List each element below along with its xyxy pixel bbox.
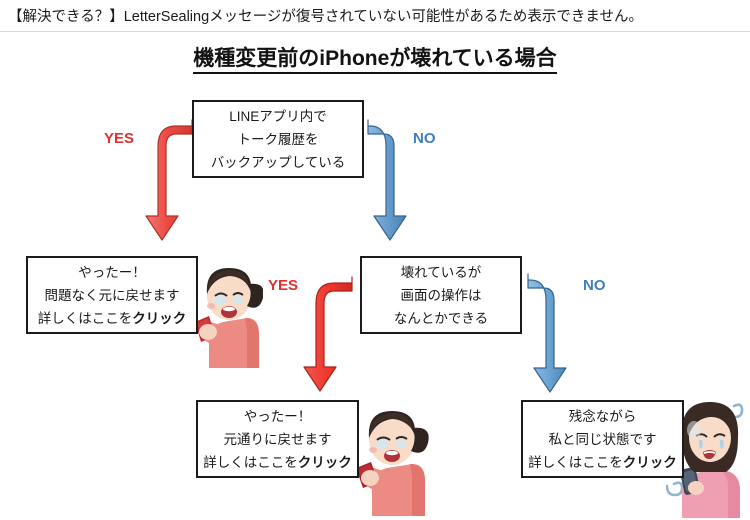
node-cta-bold: クリック: [132, 311, 186, 326]
node-line: トーク履歴を: [238, 128, 319, 151]
page-title: 機種変更前のiPhoneが壊れている場合: [0, 42, 750, 72]
node-line: バックアップしている: [211, 151, 346, 174]
page-title-text: 機種変更前のiPhoneが壊れている場合: [193, 47, 556, 74]
arrow-no-broken-to-sorry: [524, 272, 584, 398]
node-line: 私と同じ状態です: [549, 428, 657, 451]
node-cta[interactable]: 詳しくはここをクリック: [203, 451, 352, 474]
node-line: 残念ながら: [569, 405, 637, 428]
node-cta[interactable]: 詳しくはここをクリック: [38, 307, 187, 330]
node-broken-question[interactable]: 壊れているが 画面の操作は なんとかできる: [360, 256, 522, 334]
node-ok-result[interactable]: やったー！ 問題なく元に戻せます 詳しくはここをクリック: [26, 256, 198, 334]
node-sorry-result[interactable]: 残念ながら 私と同じ状態です 詳しくはここをクリック: [521, 400, 684, 478]
node-cta-prefix: 詳しくはここを: [38, 311, 133, 326]
node-cta-bold: クリック: [298, 455, 352, 470]
node-line: 問題なく元に戻せます: [45, 284, 180, 307]
node-cta-prefix: 詳しくはここを: [203, 455, 298, 470]
node-cta-bold: クリック: [623, 455, 677, 470]
node-backup-question[interactable]: LINEアプリ内で トーク履歴を バックアップしている: [192, 100, 364, 178]
node-line: やったー！: [78, 261, 146, 284]
header-divider: [0, 31, 750, 32]
node-line: やったー！: [244, 405, 312, 428]
edge-label-no-1: NO: [413, 130, 436, 147]
node-line: 元通りに戻せます: [224, 428, 332, 451]
node-line: なんとかできる: [394, 307, 488, 330]
edge-label-yes-2: YES: [268, 277, 298, 294]
node-cta[interactable]: 詳しくはここをクリック: [528, 451, 677, 474]
arrow-yes-broken-to-restore: [300, 275, 360, 397]
flowchart-page: 【解決できる？】LetterSealingメッセージが復号されていない可能性があ…: [0, 0, 750, 520]
cheering-girl-icon: [350, 398, 430, 516]
page-notice: 【解決できる？】LetterSealingメッセージが復号されていない可能性があ…: [8, 8, 744, 26]
node-restore-result[interactable]: やったー！ 元通りに戻せます 詳しくはここをクリック: [196, 400, 359, 478]
cheering-girl-icon: [189, 256, 263, 368]
node-line: 画面の操作は: [401, 284, 482, 307]
node-line: 壊れているが: [401, 261, 482, 284]
node-line: LINEアプリ内で: [229, 105, 327, 128]
node-cta-prefix: 詳しくはここを: [528, 455, 623, 470]
edge-label-no-2: NO: [583, 277, 606, 294]
edge-label-yes-1: YES: [104, 130, 134, 147]
